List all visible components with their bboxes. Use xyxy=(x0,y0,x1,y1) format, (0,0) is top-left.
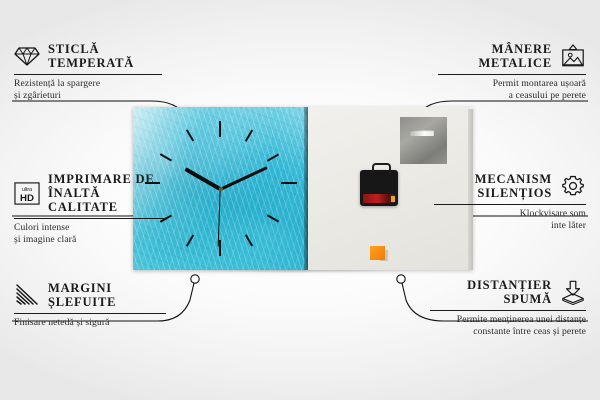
callout-title-line1: MECANISM xyxy=(475,172,552,186)
callout-subtitle-line1: Culori intense xyxy=(14,222,166,234)
svg-text:HD: HD xyxy=(20,193,34,204)
callout-title-line2: SPUMĂ xyxy=(467,292,552,306)
callout-title-line1: IMPRIMARE DE xyxy=(48,172,166,186)
callout-subtitle-line2: și zgârieturi xyxy=(14,90,162,102)
hour-hand xyxy=(184,167,221,190)
callout-distantier-spuma: DISTANȚIER SPUMĂ Permite menținerea unei… xyxy=(430,278,586,337)
tick-10 xyxy=(160,154,172,162)
press-down-arrow-icon xyxy=(560,279,586,305)
svg-text:ultra: ultra xyxy=(22,187,32,193)
product-image xyxy=(133,107,473,270)
callout-rule xyxy=(14,313,166,314)
tick-3 xyxy=(281,182,297,184)
callout-rule xyxy=(430,310,586,311)
product-infographic: STICLĂ TEMPERATĂ Rezistență la spargere … xyxy=(0,0,600,400)
tick-4 xyxy=(267,215,279,223)
tick-11 xyxy=(186,129,194,141)
quartz-movement xyxy=(360,170,398,206)
tick-1 xyxy=(245,129,253,141)
callout-title-line1: STICLĂ xyxy=(48,42,134,56)
callout-sticla-temperata: STICLĂ TEMPERATĂ Rezistență la spargere … xyxy=(14,42,162,101)
callout-subtitle-line1: Klockvisare som xyxy=(434,208,586,220)
minute-hand xyxy=(219,166,268,191)
callout-title-line1: MÂNERE xyxy=(478,42,552,56)
ultra-hd-icon: ultra HD xyxy=(14,180,40,206)
callout-rule xyxy=(438,74,586,75)
callout-title-line2: TEMPERATĂ xyxy=(48,56,134,70)
picture-frame-hook-icon xyxy=(560,43,586,69)
callout-title-line1: MARGINI xyxy=(48,281,116,295)
callout-imprimare-calitate: ultra HD IMPRIMARE DE ÎNALTĂ CALITATE Cu… xyxy=(14,172,166,245)
callout-subtitle-line1: Permite menținerea unei distanțe xyxy=(430,314,586,326)
callout-rule xyxy=(434,204,586,205)
polished-edge-icon xyxy=(14,282,40,308)
tick-6 xyxy=(219,240,221,256)
second-hand xyxy=(217,189,220,247)
callout-subtitle-line1: Rezistență la spargere xyxy=(14,78,162,90)
callout-title-line2: ÎNALTĂ CALITATE xyxy=(48,186,166,214)
callout-margini-slefuite: MARGINI ȘLEFUITE Finisare netedă și sigu… xyxy=(14,281,166,329)
tick-7 xyxy=(186,234,194,246)
callout-mecanism-silentios: MECANISM SILENȚIOS Klockvisare som inte … xyxy=(434,172,586,231)
callout-title-line1: DISTANȚIER xyxy=(467,278,552,292)
metal-hanger-plate xyxy=(400,117,447,164)
callout-rule xyxy=(14,74,162,75)
hanging-loop xyxy=(372,163,391,174)
orange-foam-spacer xyxy=(370,246,385,260)
callout-subtitle-line1: Finisare netedă și sigură xyxy=(14,317,166,329)
callout-subtitle-line2: inte låter xyxy=(434,220,586,232)
callout-title-line2: ȘLEFUITE xyxy=(48,295,116,309)
callout-title-line2: METALICE xyxy=(478,56,552,70)
callout-subtitle-line1: Permit montarea ușoară xyxy=(438,78,586,90)
hanger-slot xyxy=(410,130,434,136)
callout-title-line2: SILENȚIOS xyxy=(475,186,552,200)
diamond-icon xyxy=(14,43,40,69)
tick-5 xyxy=(245,234,253,246)
tick-12 xyxy=(219,121,221,137)
callout-rule xyxy=(14,218,166,219)
callout-subtitle-line2: și imagine clară xyxy=(14,234,166,246)
gear-icon xyxy=(560,173,586,199)
hand-pivot xyxy=(219,187,223,191)
callout-subtitle-line2: constante între ceas și perete xyxy=(430,326,586,338)
callout-manere-metalice: MÂNERE METALICE Permit montarea ușoară a… xyxy=(438,42,586,101)
tick-2 xyxy=(267,154,279,162)
callout-subtitle-line2: a ceasului pe perete xyxy=(438,90,586,102)
battery-terminal xyxy=(391,196,395,202)
